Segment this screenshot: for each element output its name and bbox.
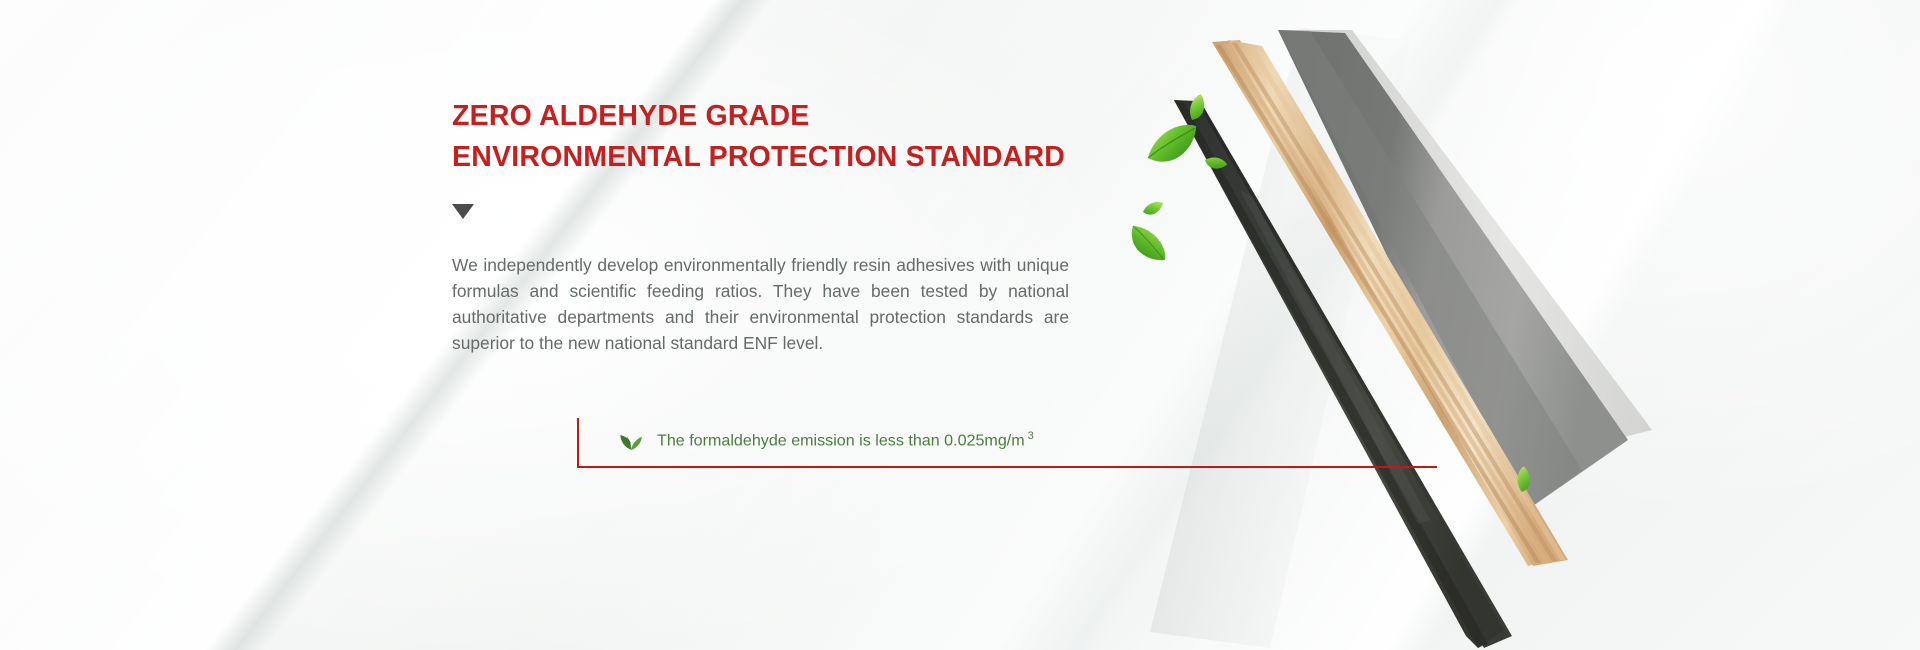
formaldehyde-label: The formaldehyde emission is less than 0…: [657, 431, 1025, 449]
formaldehyde-text: The formaldehyde emission is less than 0…: [657, 430, 1034, 450]
formaldehyde-superscript: 3: [1028, 430, 1034, 442]
leaf-icon: [619, 429, 643, 451]
text-column: ZERO ALDEHYDE GRADE ENVIRONMENTAL PROTEC…: [452, 96, 1092, 356]
headline-line-2: ENVIRONMENTAL PROTECTION STANDARD: [452, 137, 1092, 178]
hero-banner: ZERO ALDEHYDE GRADE ENVIRONMENTAL PROTEC…: [0, 0, 1920, 650]
body-paragraph: We independently develop environmentally…: [452, 253, 1069, 356]
formaldehyde-callout: The formaldehyde emission is less than 0…: [577, 418, 1437, 468]
page-title: ZERO ALDEHYDE GRADE ENVIRONMENTAL PROTEC…: [452, 96, 1092, 178]
headline-line-1: ZERO ALDEHYDE GRADE: [452, 96, 1092, 137]
triangle-down-icon: [452, 204, 474, 219]
